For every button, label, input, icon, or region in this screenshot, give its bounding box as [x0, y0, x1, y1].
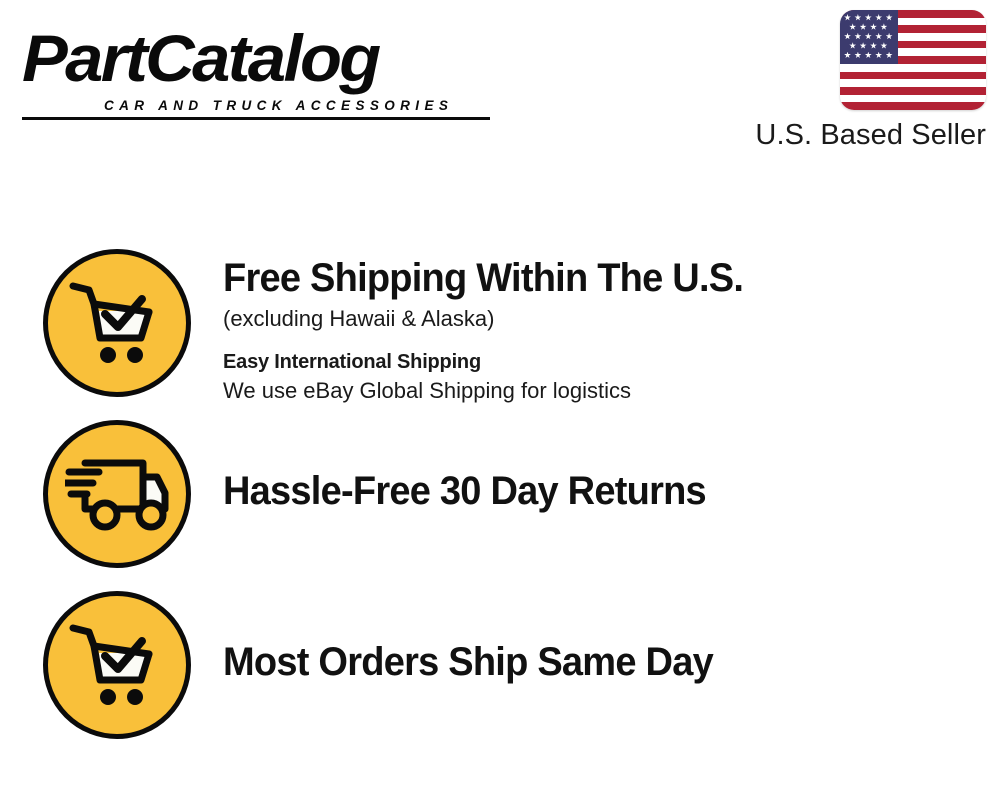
feature-subtext-exclusions: (excluding Hawaii & Alaska) [223, 304, 963, 334]
feature-title: Free Shipping Within The U.S. [223, 255, 926, 301]
shopping-cart-check-icon [43, 591, 191, 739]
shopping-cart-check-icon [43, 249, 191, 397]
feature-text-block: Most Orders Ship Same Day [223, 639, 963, 685]
feature-title: Most Orders Ship Same Day [223, 639, 926, 685]
feature-row-same-day-ship: Most Orders Ship Same Day [0, 591, 1000, 741]
feature-text-block: Hassle-Free 30 Day Returns [223, 468, 963, 514]
delivery-truck-icon [43, 420, 191, 568]
feature-row-free-shipping: Free Shipping Within The U.S. (excluding… [0, 249, 1000, 409]
feature-subtext-logistics: We use eBay Global Shipping for logistic… [223, 376, 963, 406]
feature-subtext-international-heading: Easy International Shipping [223, 348, 963, 376]
feature-title: Hassle-Free 30 Day Returns [223, 468, 926, 514]
feature-text-block: Free Shipping Within The U.S. (excluding… [223, 255, 963, 406]
features-list: Free Shipping Within The U.S. (excluding… [0, 0, 1000, 800]
feature-row-returns: Hassle-Free 30 Day Returns [0, 420, 1000, 570]
